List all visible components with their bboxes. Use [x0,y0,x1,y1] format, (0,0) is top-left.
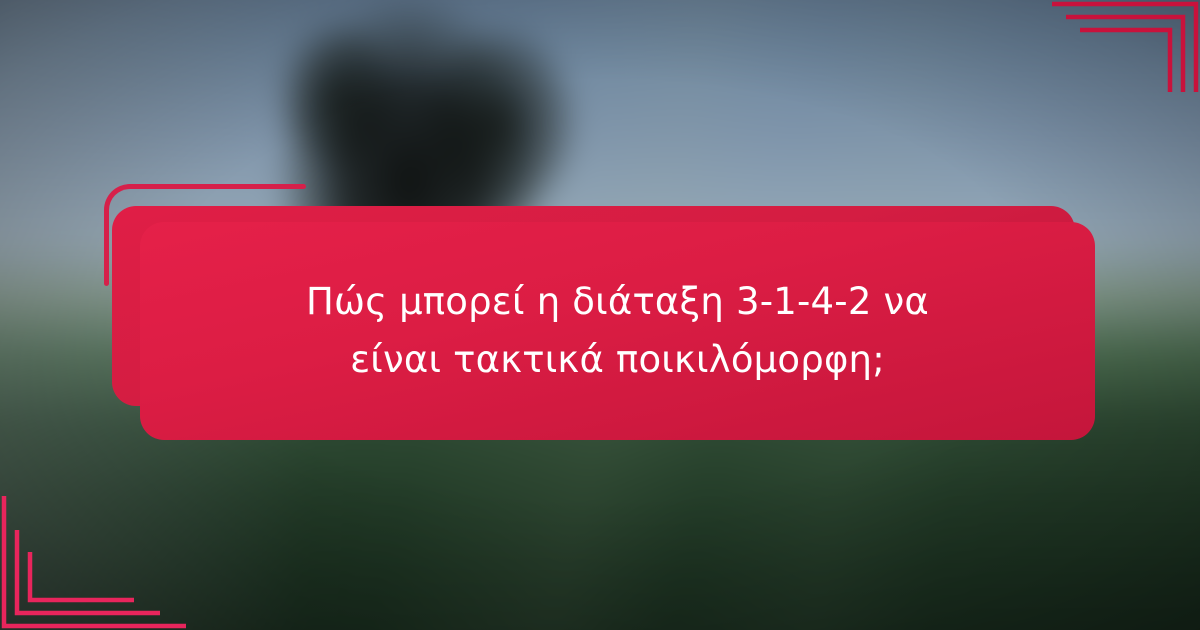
social-card-canvas: Πώς μπορεί η διάταξη 3-1-4-2 να είναι τα… [0,0,1200,630]
question-text: Πώς μπορεί η διάταξη 3-1-4-2 να είναι τα… [208,273,1028,388]
question-card: Πώς μπορεί η διάταξη 3-1-4-2 να είναι τα… [140,222,1095,440]
